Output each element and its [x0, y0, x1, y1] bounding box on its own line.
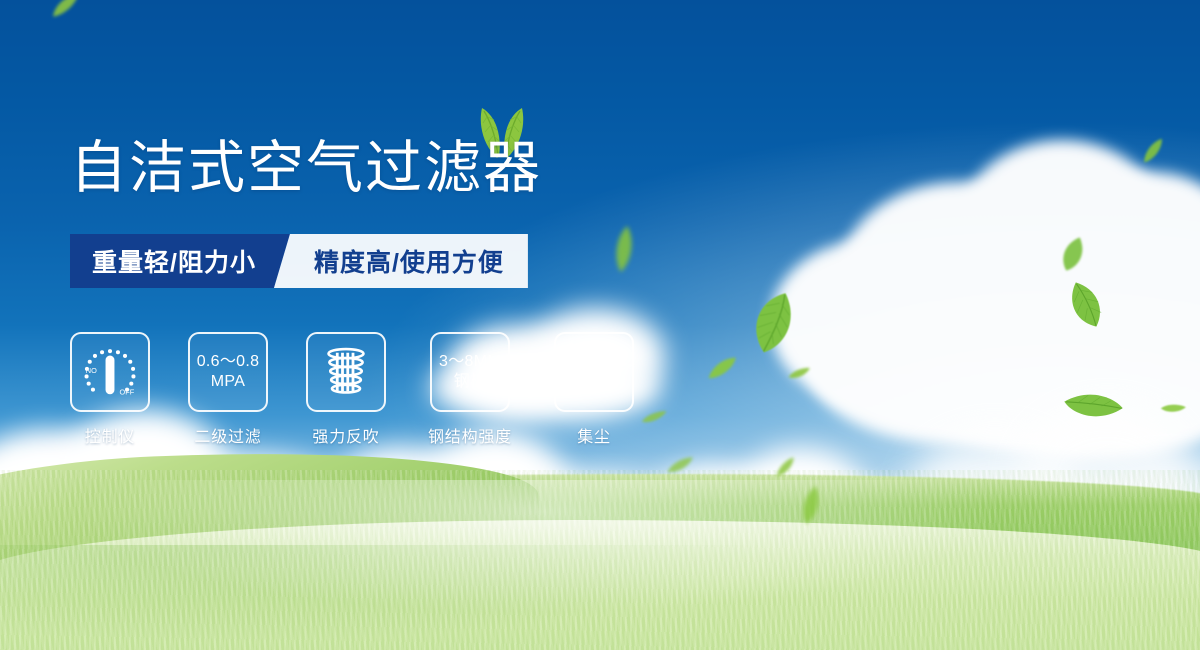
- product-banner: 自洁式空气过滤器 重量轻/阻力小 精度高/使用方便: [0, 0, 1200, 650]
- page-title: 自洁式空气过滤器: [70, 140, 542, 197]
- grass-shadow: [0, 545, 1200, 650]
- pressure-value-line1: 0.6～0.8: [197, 352, 260, 372]
- steel-value-line1: 3～8MM: [439, 352, 501, 372]
- pressure-text-icon: 0.6～0.8 MPA: [188, 332, 268, 412]
- feature-label: 钢结构强度: [428, 423, 512, 447]
- feature-item-backblow[interactable]: 强力反吹: [306, 332, 386, 447]
- feature-list: NO OFF 控制仪 0.6～0.8 MPA 二级过滤: [70, 332, 634, 447]
- feature-label: 控制仪: [85, 423, 135, 447]
- gauge-off-label: OFF: [120, 387, 135, 396]
- subtitle-left: 重量轻/阻力小: [70, 234, 290, 288]
- feature-item-controller[interactable]: NO OFF 控制仪: [70, 332, 150, 447]
- air-label: Air: [588, 386, 601, 395]
- feature-item-steel-strength[interactable]: 3～8MM 钢板 钢结构强度: [424, 332, 516, 447]
- steel-plate-text-icon: 3～8MM 钢板: [430, 332, 510, 412]
- feature-item-secondary-filter[interactable]: 0.6～0.8 MPA 二级过滤: [188, 332, 268, 447]
- feature-label: 强力反吹: [312, 423, 379, 447]
- feature-label: 集尘: [577, 423, 611, 447]
- feature-label: 二级过滤: [194, 423, 261, 447]
- steel-value-line2: 钢板: [454, 372, 487, 392]
- subtitle-bar: 重量轻/阻力小 精度高/使用方便: [70, 234, 528, 288]
- coil-filter-icon: [306, 332, 386, 412]
- gauge-icon: NO OFF: [70, 332, 150, 412]
- feature-item-dust-collection[interactable]: Air 集尘: [554, 332, 634, 447]
- cloud-air-icon: Air: [554, 332, 634, 412]
- subtitle-right: 精度高/使用方便: [274, 234, 528, 288]
- gauge-no-label: NO: [86, 366, 97, 375]
- pressure-value-line2: MPA: [211, 372, 245, 392]
